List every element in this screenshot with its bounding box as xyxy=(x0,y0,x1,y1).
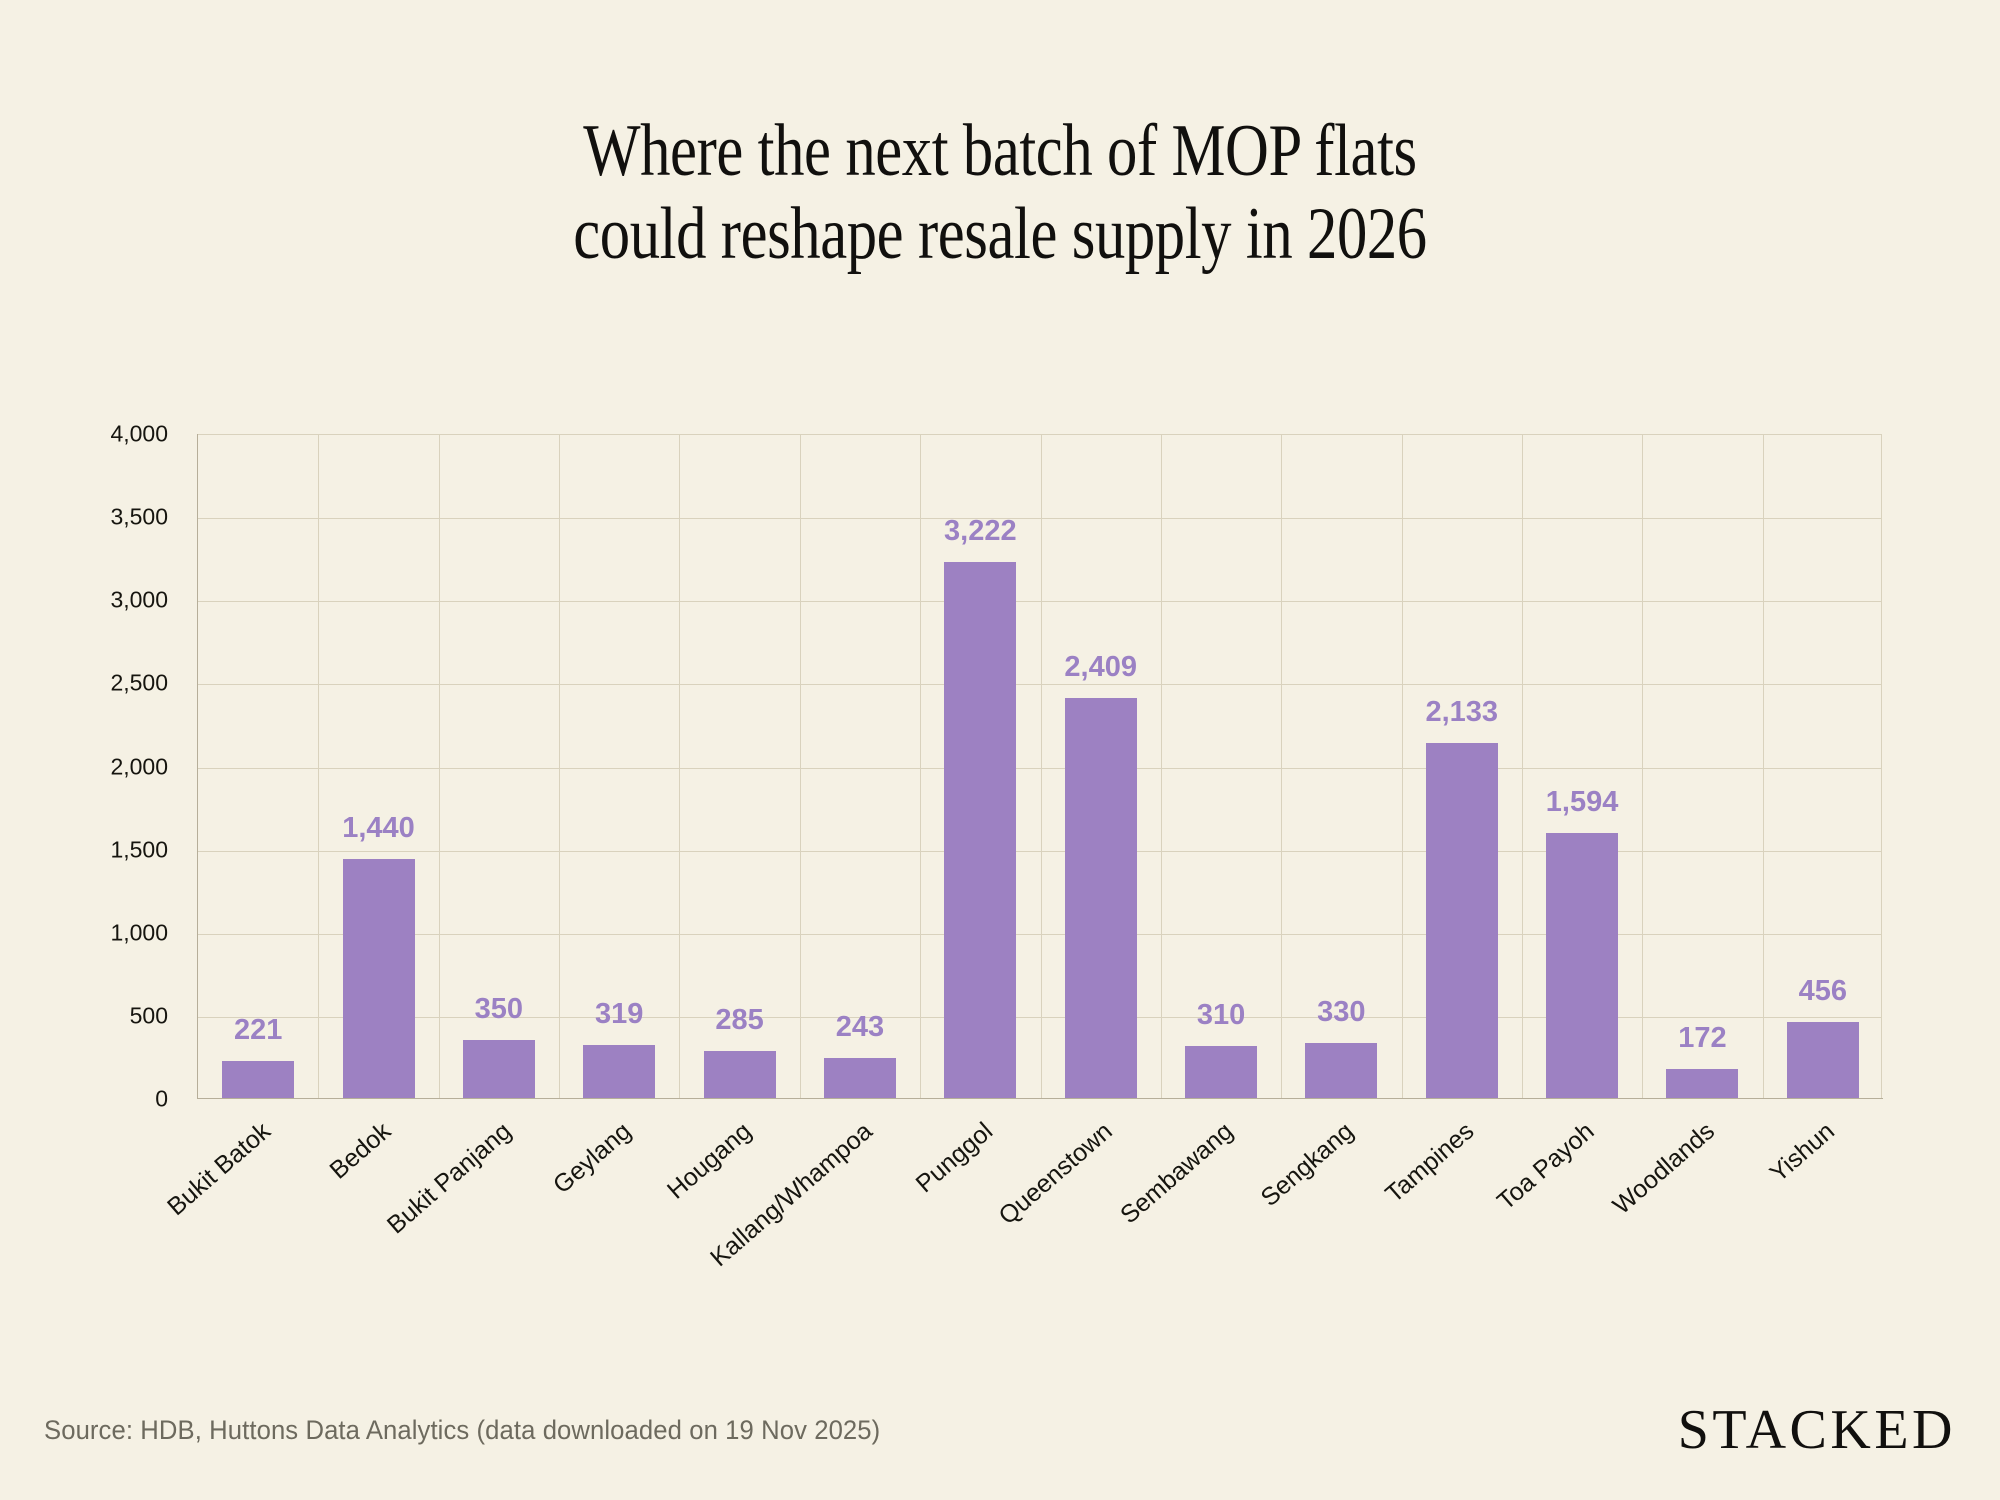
x-tick-label: Yishun xyxy=(1765,1117,1841,1188)
y-tick-label: 2,500 xyxy=(110,670,168,697)
bar[interactable] xyxy=(463,1040,535,1098)
x-label-slot: Queenstown xyxy=(1040,1099,1160,1359)
x-label-slot: Geylang xyxy=(558,1099,678,1359)
bar-group[interactable]: 310 xyxy=(1161,435,1281,1098)
bar-group[interactable]: 285 xyxy=(679,435,799,1098)
bar-group[interactable]: 456 xyxy=(1763,435,1883,1098)
bar-value-label: 172 xyxy=(1678,1022,1726,1055)
bar-value-label: 3,222 xyxy=(944,515,1017,548)
y-tick-label: 3,500 xyxy=(110,504,168,531)
bar-value-label: 1,594 xyxy=(1546,786,1619,819)
bar[interactable] xyxy=(1666,1069,1738,1098)
y-tick-label: 500 xyxy=(130,1002,168,1029)
y-axis-line xyxy=(197,434,198,1099)
y-axis-ticks: 4,0003,5003,0002,5002,0001,5001,0005000 xyxy=(0,0,168,1500)
stacked-logo: STACKED xyxy=(1678,1398,1956,1462)
bar-value-label: 243 xyxy=(836,1011,884,1044)
bar-value-label: 2,409 xyxy=(1064,651,1137,684)
bar[interactable] xyxy=(583,1045,655,1098)
x-label-slot: Tampines xyxy=(1401,1099,1521,1359)
bar[interactable] xyxy=(824,1058,896,1098)
chart-page: Where the next batch of MOP flats could … xyxy=(0,0,2000,1500)
title-line-2: could reshape resale supply in 2026 xyxy=(180,193,1820,276)
x-tick-label: Bukit Batok xyxy=(162,1117,276,1222)
bar-value-label: 319 xyxy=(595,998,643,1031)
bar-group[interactable]: 3,222 xyxy=(920,435,1040,1098)
bar-group[interactable]: 1,594 xyxy=(1522,435,1642,1098)
bar-value-label: 350 xyxy=(475,993,523,1026)
x-label-slot: Bedok xyxy=(317,1099,437,1359)
bar-group[interactable]: 172 xyxy=(1642,435,1762,1098)
bar[interactable] xyxy=(1185,1046,1257,1098)
bar[interactable] xyxy=(1787,1022,1859,1098)
x-label-slot: Sengkang xyxy=(1280,1099,1400,1359)
y-tick-label: 1,500 xyxy=(110,836,168,863)
bar[interactable] xyxy=(1305,1043,1377,1098)
source-note: Source: HDB, Huttons Data Analytics (dat… xyxy=(44,1415,880,1446)
bar[interactable] xyxy=(1426,743,1498,1098)
bar-group[interactable]: 1,440 xyxy=(318,435,438,1098)
bar-value-label: 2,133 xyxy=(1425,696,1498,729)
bar-group[interactable]: 221 xyxy=(198,435,318,1098)
x-tick-label: Punggol xyxy=(910,1117,998,1199)
y-tick-label: 3,000 xyxy=(110,587,168,614)
plot-area: 2211,4403503192852433,2222,4093103302,13… xyxy=(197,434,1882,1099)
bar[interactable] xyxy=(343,859,415,1098)
x-label-slot: Woodlands xyxy=(1641,1099,1761,1359)
x-label-slot: Kallang/Whampoa xyxy=(799,1099,919,1359)
page-title: Where the next batch of MOP flats could … xyxy=(0,110,2000,276)
bar-group[interactable]: 350 xyxy=(439,435,559,1098)
x-label-slot: Yishun xyxy=(1762,1099,1882,1359)
bar[interactable] xyxy=(1065,698,1137,1098)
x-label-slot: Sembawang xyxy=(1160,1099,1280,1359)
bar-value-label: 285 xyxy=(715,1004,763,1037)
bar[interactable] xyxy=(704,1051,776,1098)
x-label-slot: Bukit Batok xyxy=(197,1099,317,1359)
bar-group[interactable]: 319 xyxy=(559,435,679,1098)
bar-group[interactable]: 330 xyxy=(1281,435,1401,1098)
title-line-1: Where the next batch of MOP flats xyxy=(180,110,1820,193)
bar-group[interactable]: 2,409 xyxy=(1041,435,1161,1098)
x-label-slot: Bukit Panjang xyxy=(438,1099,558,1359)
y-tick-label: 0 xyxy=(155,1086,168,1113)
x-label-slot: Punggol xyxy=(919,1099,1039,1359)
bar-group[interactable]: 243 xyxy=(800,435,920,1098)
bar[interactable] xyxy=(222,1061,294,1098)
y-tick-label: 2,000 xyxy=(110,753,168,780)
bar-group[interactable]: 2,133 xyxy=(1402,435,1522,1098)
x-label-slot: Toa Payoh xyxy=(1521,1099,1641,1359)
x-tick-label: Bedok xyxy=(324,1117,397,1185)
bar-value-label: 221 xyxy=(234,1014,282,1047)
x-axis-labels: Bukit BatokBedokBukit PanjangGeylangHoug… xyxy=(197,1099,1882,1359)
x-tick-label: Geylang xyxy=(548,1117,637,1200)
bar[interactable] xyxy=(1546,833,1618,1098)
bar[interactable] xyxy=(944,562,1016,1098)
bar-value-label: 330 xyxy=(1317,996,1365,1029)
y-tick-label: 4,000 xyxy=(110,421,168,448)
bar-value-label: 310 xyxy=(1197,999,1245,1032)
bar-value-label: 1,440 xyxy=(342,812,415,845)
y-tick-label: 1,000 xyxy=(110,919,168,946)
bar-value-label: 456 xyxy=(1799,975,1847,1008)
